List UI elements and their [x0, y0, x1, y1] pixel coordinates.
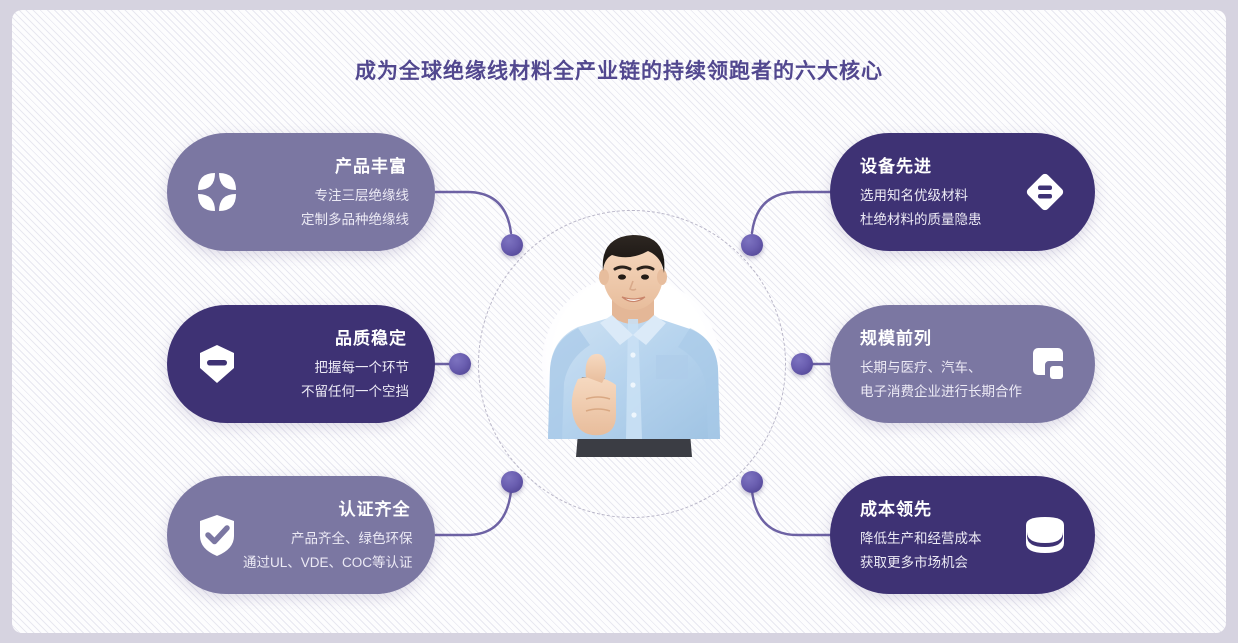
- card-line-2: 通过UL、VDE、COC等认证: [243, 551, 413, 575]
- page-title: 成为全球绝缘线材料全产业链的持续领跑者的六大核心: [12, 55, 1226, 85]
- card-title: 规模前列: [860, 324, 932, 349]
- card-equipment-advanced[interactable]: 设备先进 选用知名优级材料 杜绝材料的质量隐患: [830, 133, 1095, 251]
- connector-dot-bottom-left: [501, 471, 523, 493]
- connector-dot-mid-right: [791, 353, 813, 375]
- card-line-1: 长期与医疗、汽车、: [860, 356, 982, 380]
- card-line-1: 把握每一个环节: [315, 356, 410, 380]
- connector-top-left: [435, 192, 511, 233]
- card-line-1: 产品齐全、绿色环保: [291, 527, 413, 551]
- connector-dot-top-left: [501, 234, 523, 256]
- card-product-rich[interactable]: 产品丰富 专注三层绝缘线 定制多品种绝缘线: [167, 133, 435, 251]
- card-quality-stable[interactable]: 品质稳定 把握每一个环节 不留任何一个空挡: [167, 305, 435, 423]
- card-title: 认证齐全: [339, 495, 411, 520]
- card-title: 品质稳定: [335, 324, 407, 349]
- card-line-1: 降低生产和经营成本: [860, 527, 982, 551]
- connector-top-right: [752, 192, 830, 233]
- card-certification-complete[interactable]: 认证齐全 产品齐全、绿色环保 通过UL、VDE、COC等认证: [167, 476, 435, 594]
- connector-bottom-right: [752, 491, 830, 535]
- card-scale-leading[interactable]: 规模前列 长期与医疗、汽车、 电子消费企业进行长期合作: [830, 305, 1095, 423]
- connector-dot-bottom-right: [741, 471, 763, 493]
- card-line-1: 选用知名优级材料: [860, 184, 968, 208]
- card-title: 成本领先: [860, 495, 932, 520]
- four-petal-clover-icon: [191, 166, 243, 218]
- card-line-2: 获取更多市场机会: [860, 551, 968, 575]
- card-title: 设备先进: [860, 152, 932, 177]
- connector-bottom-left: [435, 491, 511, 535]
- card-line-2: 杜绝材料的质量隐患: [860, 208, 982, 232]
- connector-dot-mid-left: [449, 353, 471, 375]
- connector-dot-top-right: [741, 234, 763, 256]
- database-stack-icon: [1019, 509, 1071, 561]
- card-title: 产品丰富: [335, 152, 407, 177]
- content-panel: 成为全球绝缘线材料全产业链的持续领跑者的六大核心: [12, 10, 1226, 633]
- card-line-2: 定制多品种绝缘线: [301, 208, 409, 232]
- card-line-1: 专注三层绝缘线: [315, 184, 410, 208]
- card-cost-leading[interactable]: 成本领先 降低生产和经营成本 获取更多市场机会: [830, 476, 1095, 594]
- gem-minus-icon: [191, 338, 243, 390]
- corner-squares-icon: [1022, 338, 1074, 390]
- center-photo-circle: [542, 275, 720, 453]
- diamond-bars-icon: [1019, 166, 1071, 218]
- card-line-2: 不留任何一个空挡: [301, 380, 409, 404]
- card-line-2: 电子消费企业进行长期合作: [860, 380, 1022, 404]
- shield-check-icon: [191, 509, 243, 561]
- smiling-man-thumbs-up-photo: [520, 227, 742, 457]
